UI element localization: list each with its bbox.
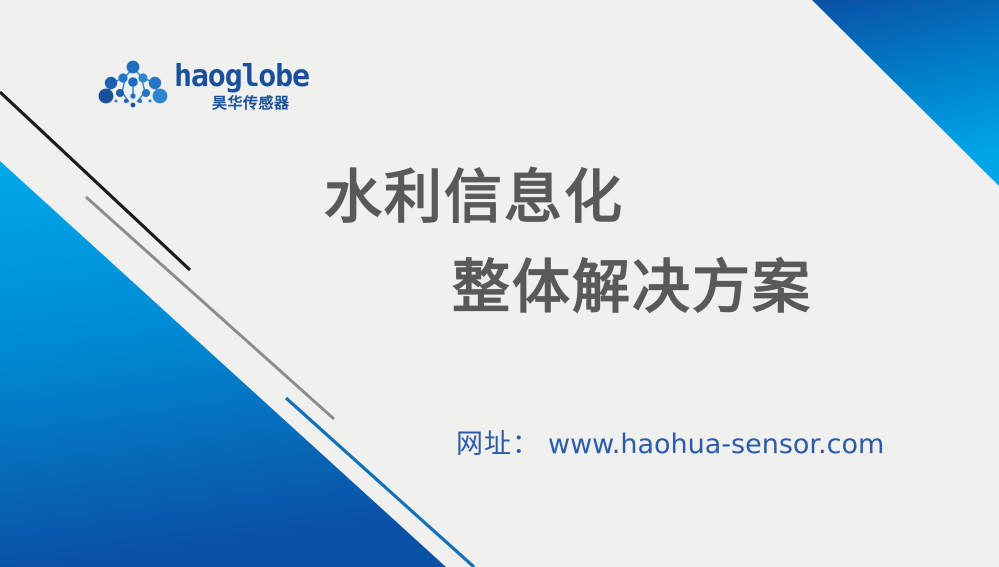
logo-wordmark-haoglobe: haoglobe (174, 60, 316, 94)
slide-title: 水利信息化 整体解决方案 (0, 160, 905, 324)
title-slide: haoglobe 昊华传感器 水利信息化 整体解决方案 网址： www.haoh… (0, 0, 999, 567)
top-right-triangle (812, 0, 999, 186)
website-url[interactable]: www.haohua-sensor.com (548, 429, 884, 460)
title-line-1: 水利信息化 (0, 160, 905, 234)
company-logo: haoglobe 昊华传感器 (96, 58, 318, 120)
title-line-2: 整体解决方案 (0, 250, 905, 324)
svg-text:haoglobe: haoglobe (174, 60, 309, 94)
website-line: 网址： www.haohua-sensor.com (456, 422, 884, 461)
logo-text-group: haoglobe 昊华传感器 (174, 58, 316, 118)
website-label: 网址： (456, 422, 540, 461)
haoglobe-molecule-mark-icon (96, 58, 170, 114)
logo-subtitle: 昊华传感器 (212, 92, 290, 113)
